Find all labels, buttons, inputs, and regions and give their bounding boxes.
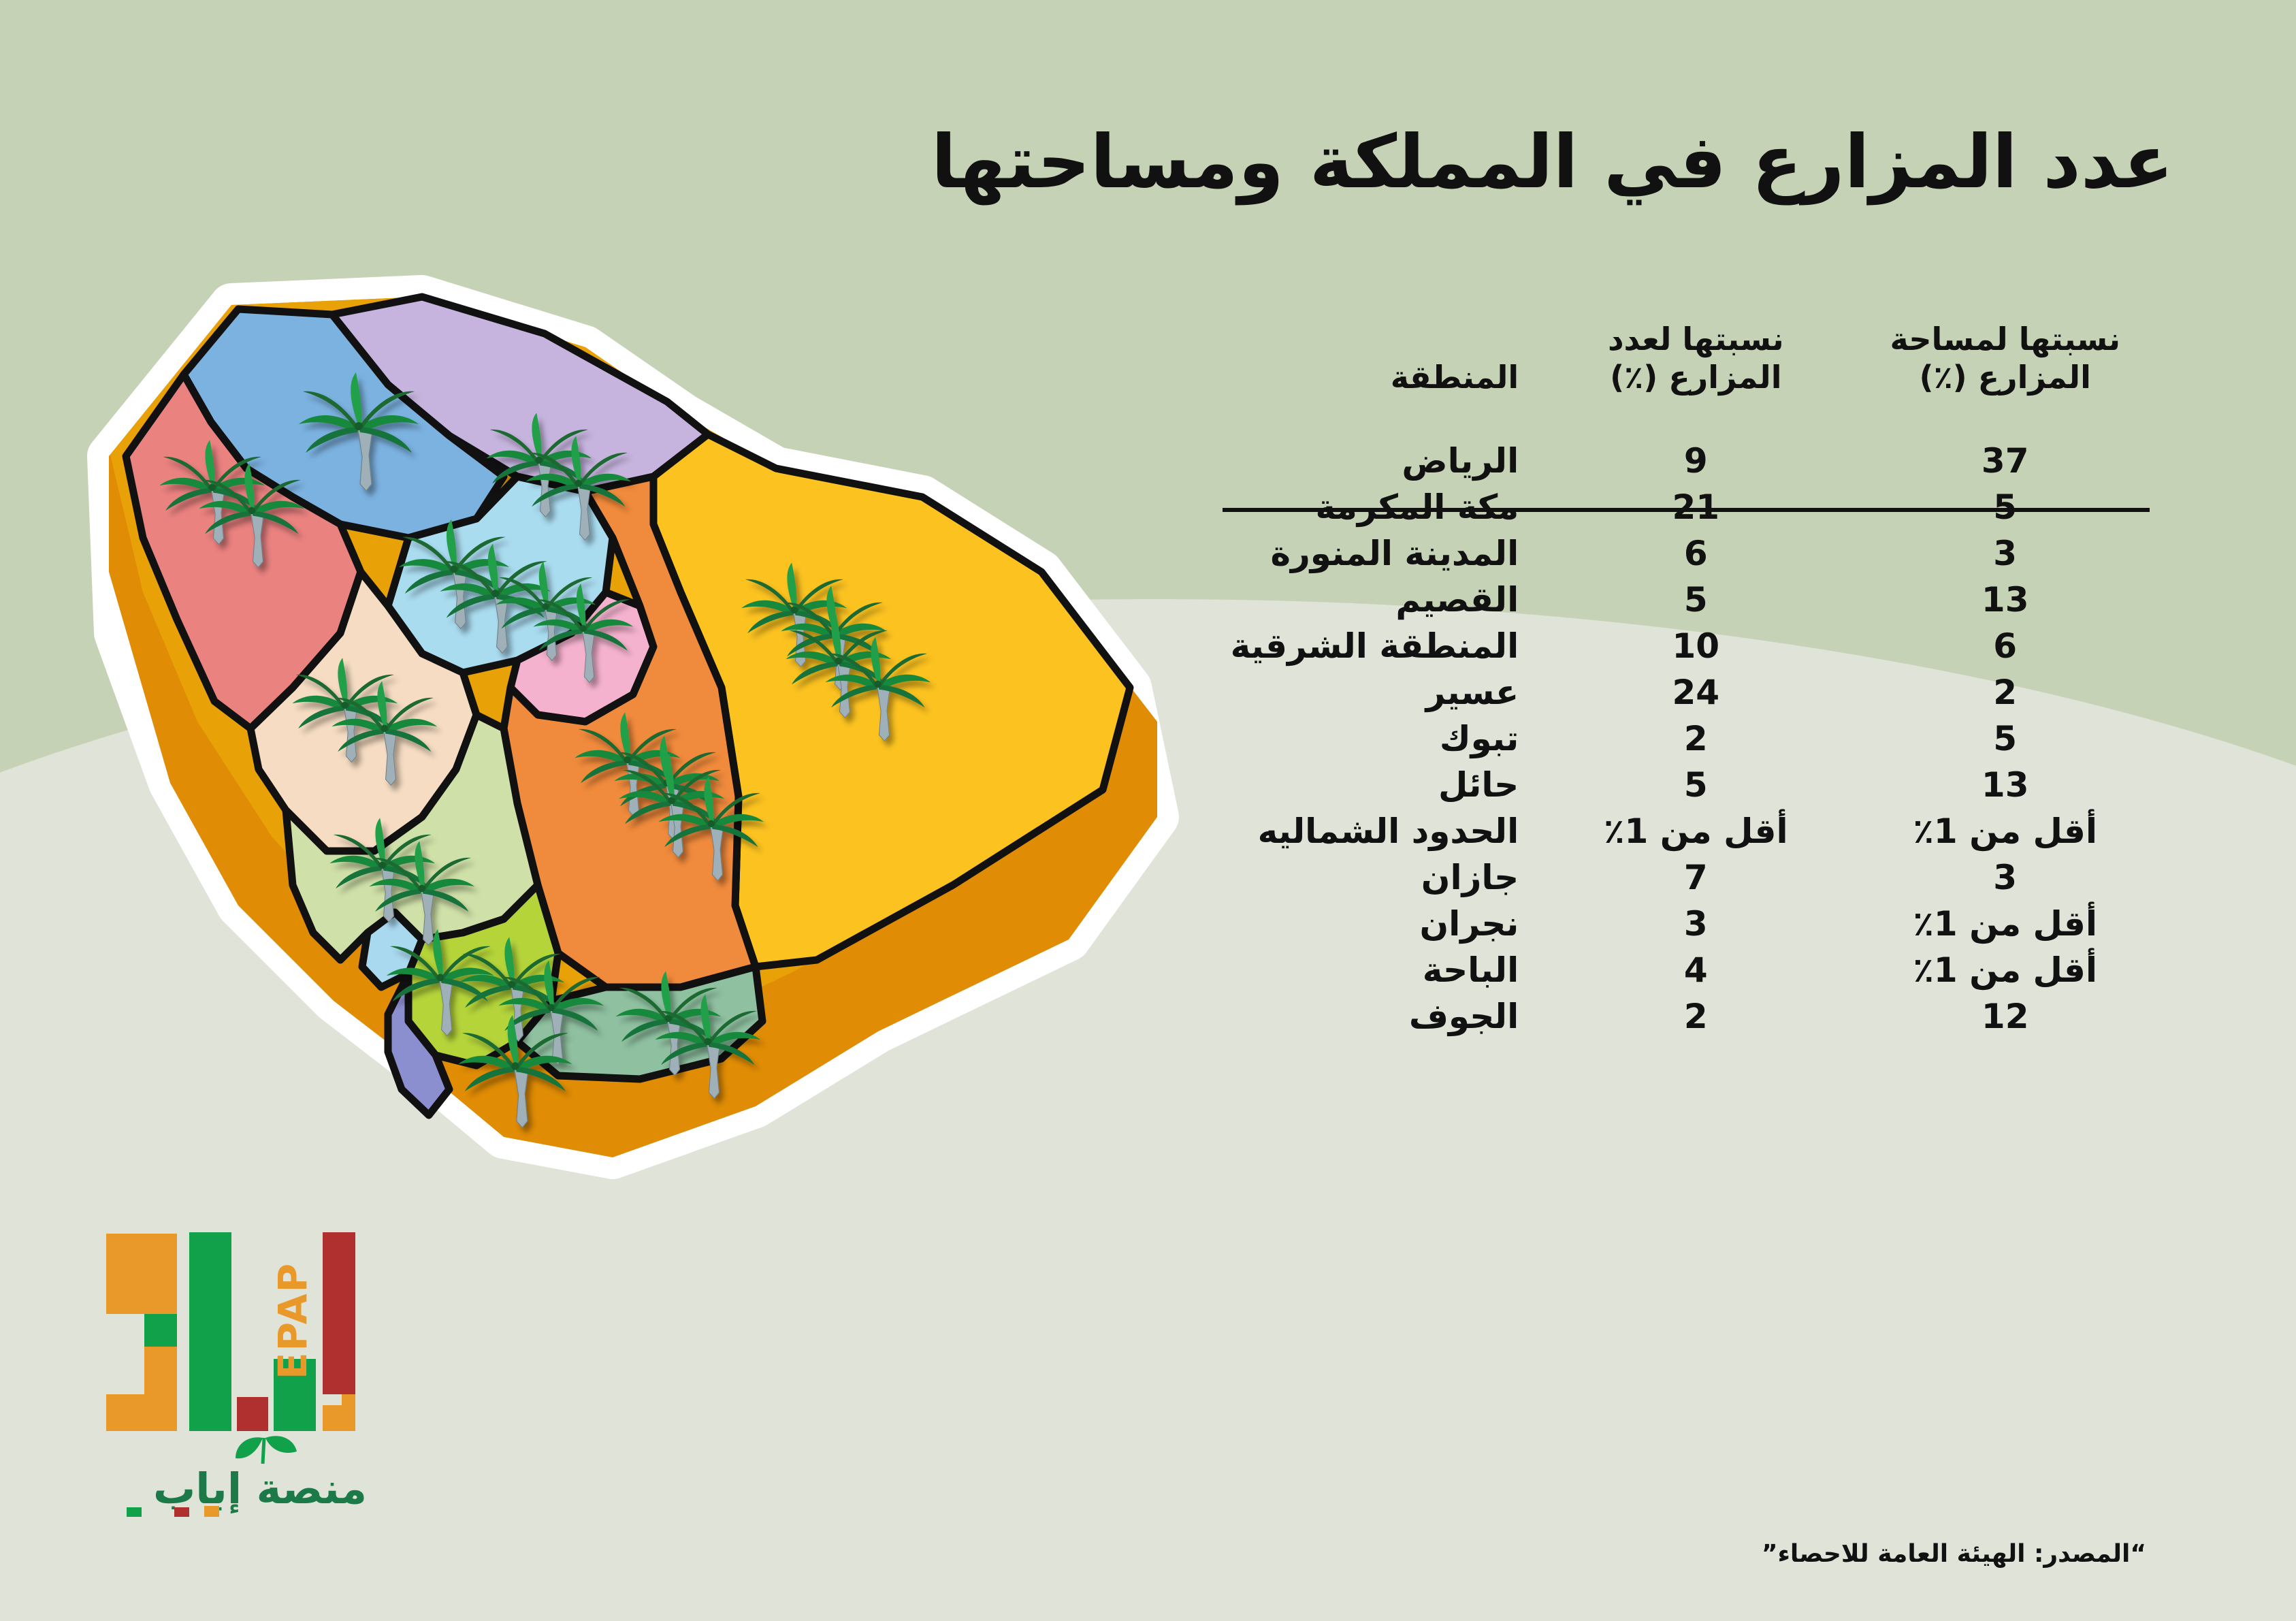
logo-bar-green xyxy=(189,1232,231,1431)
logo-arabic-text: منصة إباب xyxy=(153,1464,367,1513)
logo-bar-orange xyxy=(106,1234,177,1431)
table-row: 3 6 المدينة المنورة xyxy=(1198,530,2165,577)
table-header-row: نسبتها لمساحة المزارع (٪) نسبتها لعدد ال… xyxy=(1198,320,2165,408)
column-header-region: المنطقة xyxy=(1198,320,1546,408)
cell-region: المدينة المنورة xyxy=(1198,530,1546,577)
cell-count-pct: 2 xyxy=(1546,993,1845,1040)
column-header-area-pct: نسبتها لمساحة المزارع (٪) xyxy=(1845,320,2165,408)
farms-table: نسبتها لمساحة المزارع (٪) نسبتها لعدد ال… xyxy=(1198,320,2165,1040)
table-row: 37 9 الرياض xyxy=(1198,408,2165,484)
source-note: “المصدر: الهيئة العامة للاحصاء” xyxy=(1762,1540,2146,1568)
cell-area-pct: 6 xyxy=(1845,623,2165,669)
logo-bar-red-tall xyxy=(323,1232,355,1394)
cell-region: الرياض xyxy=(1198,408,1546,484)
cell-region: الباحة xyxy=(1198,947,1546,993)
table-row: أقل من 1٪ 3 نجران xyxy=(1198,901,2165,947)
cell-region: القصيم xyxy=(1198,577,1546,623)
cell-count-pct: 3 xyxy=(1546,901,1845,947)
table-body: 37 9 الرياض 5 21 مكة المكرمة 3 6 المدينة… xyxy=(1198,408,2165,1040)
logo-latin-text: EPAP xyxy=(270,1262,316,1379)
table-header-rule xyxy=(1223,508,2150,512)
table-row: 13 5 القصيم xyxy=(1198,577,2165,623)
cell-region: تبوك xyxy=(1198,716,1546,762)
table-row: 13 5 حائل xyxy=(1198,762,2165,808)
cell-area-pct: 3 xyxy=(1845,854,2165,901)
cell-area-pct: أقل من 1٪ xyxy=(1845,947,2165,993)
cell-area-pct: 13 xyxy=(1845,577,2165,623)
cell-region: عسير xyxy=(1198,669,1546,716)
cell-region: نجران xyxy=(1198,901,1546,947)
cell-count-pct: 7 xyxy=(1546,854,1845,901)
logo-bar-red xyxy=(237,1397,268,1431)
page-title: عدد المزارع في المملكة ومساحتها xyxy=(404,123,2173,204)
cell-region: الحدود الشماليه xyxy=(1198,808,1546,854)
epap-logo: EPAP منصة إباب xyxy=(102,1219,415,1518)
cell-area-pct: 3 xyxy=(1845,530,2165,577)
table-row: أقل من 1٪ 4 الباحة xyxy=(1198,947,2165,993)
cell-count-pct: 6 xyxy=(1546,530,1845,577)
table-row: 12 2 الجوف xyxy=(1198,993,2165,1040)
cell-area-pct: أقل من 1٪ xyxy=(1845,901,2165,947)
cell-count-pct: أقل من 1٪ xyxy=(1546,808,1845,854)
column-header-count-pct: نسبتها لعدد المزارع (٪) xyxy=(1546,320,1845,408)
cell-region: الجوف xyxy=(1198,993,1546,1040)
table-row: 3 7 جازان xyxy=(1198,854,2165,901)
table-row: أقل من 1٪ أقل من 1٪ الحدود الشماليه xyxy=(1198,808,2165,854)
infographic-canvas: عدد المزارع في المملكة ومساحتها xyxy=(0,0,2296,1621)
cell-area-pct: 5 xyxy=(1845,716,2165,762)
leaf-icon xyxy=(236,1436,297,1464)
cell-area-pct: 37 xyxy=(1845,408,2165,484)
cell-region: جازان xyxy=(1198,854,1546,901)
table-row: 6 10 المنطقة الشرقية xyxy=(1198,623,2165,669)
cell-area-pct: 2 xyxy=(1845,669,2165,716)
table-row: 2 24 عسير xyxy=(1198,669,2165,716)
cell-count-pct: 24 xyxy=(1546,669,1845,716)
cell-count-pct: 9 xyxy=(1546,408,1845,484)
cell-region: المنطقة الشرقية xyxy=(1198,623,1546,669)
table-row: 5 2 تبوك xyxy=(1198,716,2165,762)
cell-area-pct: 13 xyxy=(1845,762,2165,808)
cell-area-pct: أقل من 1٪ xyxy=(1845,808,2165,854)
cell-count-pct: 4 xyxy=(1546,947,1845,993)
cell-area-pct: 12 xyxy=(1845,993,2165,1040)
cell-count-pct: 5 xyxy=(1546,577,1845,623)
cell-region: حائل xyxy=(1198,762,1546,808)
cell-count-pct: 5 xyxy=(1546,762,1845,808)
cell-count-pct: 10 xyxy=(1546,623,1845,669)
cell-count-pct: 2 xyxy=(1546,716,1845,762)
saudi-arabia-map xyxy=(68,252,1266,1225)
